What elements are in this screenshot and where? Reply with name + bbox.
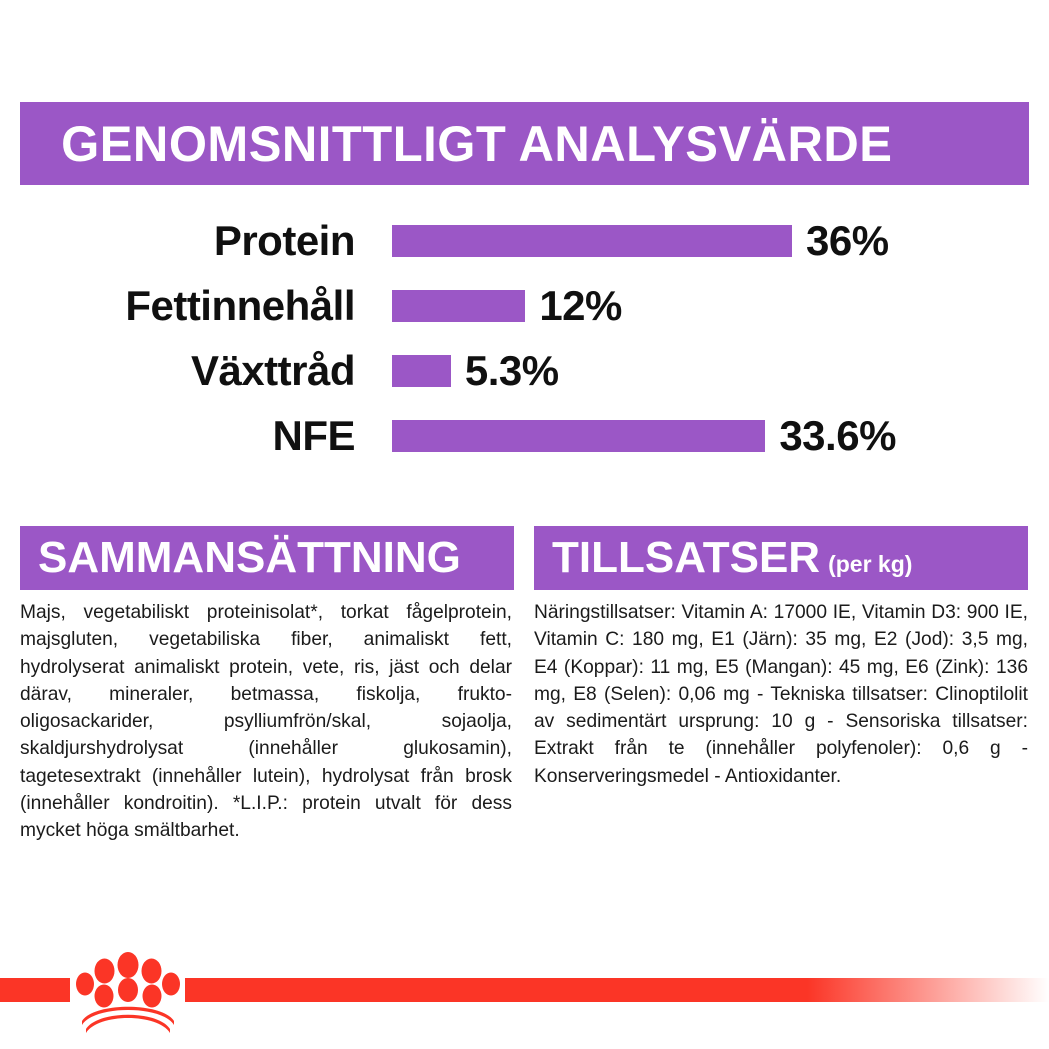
chart-row: Protein 36% [0,208,1049,273]
analysis-banner: GENOMSNITTLIGT ANALYSVÄRDE [20,102,1029,185]
footer-stripe-left [0,978,70,1002]
chart-row: Växttråd 5.3% [0,338,1049,403]
chart-category-label: Fettinnehåll [0,285,355,327]
brand-footer [0,978,1049,1002]
info-columns: SAMMANSÄTTNING Majs, vegetabiliskt prote… [20,526,1029,845]
additives-header: TILLSATSER (per kg) [534,526,1028,590]
additives-header-subtitle: (per kg) [820,532,912,596]
chart-track: 5.3% [355,350,1049,392]
chart-row: NFE 33.6% [0,403,1049,468]
composition-text: Majs, vegetabiliskt proteinisolat*, tork… [20,599,514,845]
chart-bar [392,420,765,452]
chart-track: 12% [355,285,1049,327]
additives-column: TILLSATSER (per kg) Näringstillsatser: V… [534,526,1028,845]
composition-header-title: SAMMANSÄTTNING [38,526,461,590]
chart-bar [392,290,525,322]
chart-value-label: 36% [792,220,889,262]
chart-value-label: 5.3% [451,350,559,392]
composition-column: SAMMANSÄTTNING Majs, vegetabiliskt prote… [20,526,514,845]
chart-category-label: Protein [0,220,355,262]
chart-row: Fettinnehåll 12% [0,273,1049,338]
chart-value-label: 33.6% [765,415,896,457]
chart-bar [392,355,451,387]
additives-text: Näringstillsatser: Vitamin A: 17000 IE, … [534,599,1028,790]
composition-header: SAMMANSÄTTNING [20,526,514,590]
chart-category-label: Växttråd [0,350,355,392]
analysis-bar-chart: Protein 36% Fettinnehåll 12% Växttråd 5.… [0,208,1049,468]
chart-bar [392,225,792,257]
chart-track: 33.6% [355,415,1049,457]
footer-stripe-right [185,978,1049,1002]
chart-value-label: 12% [525,285,622,327]
chart-category-label: NFE [0,415,355,457]
additives-header-title: TILLSATSER [552,526,820,590]
chart-track: 36% [355,220,1049,262]
page-title: GENOMSNITTLIGT ANALYSVÄRDE [20,119,892,169]
royal-canin-crown-logo [74,949,182,1033]
